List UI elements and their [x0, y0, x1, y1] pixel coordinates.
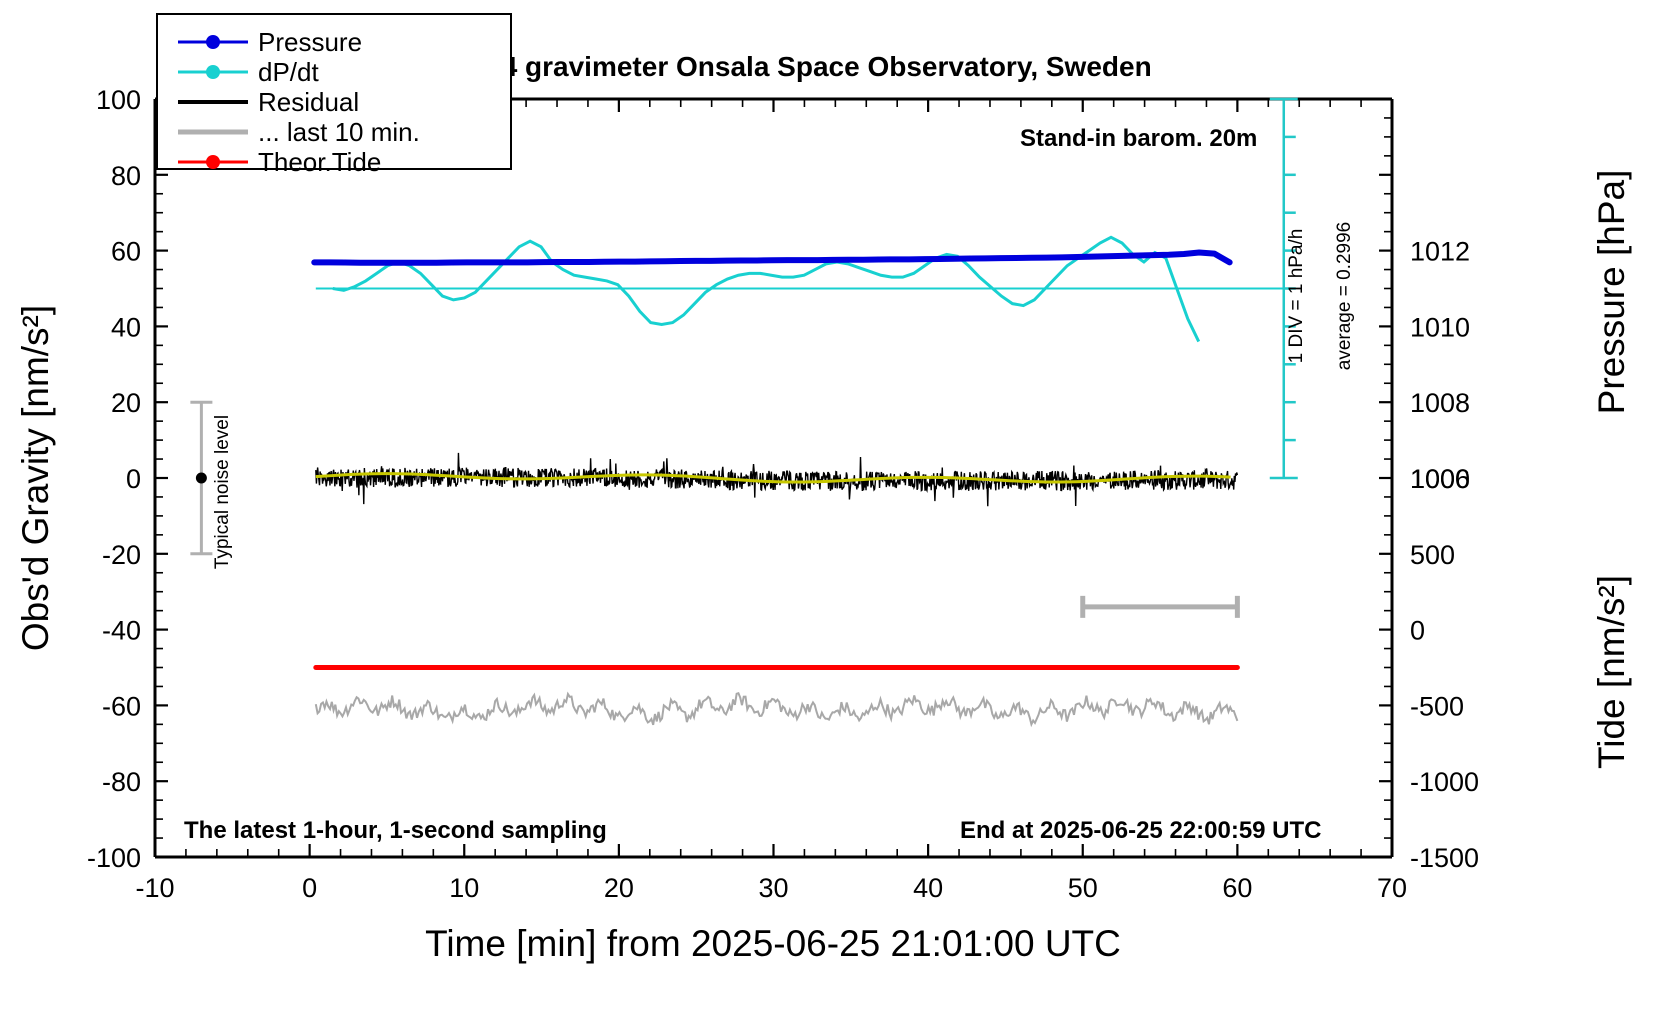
legend-label: Residual [258, 87, 359, 117]
x-tick-label: 10 [449, 873, 479, 903]
tide-axis-label: Tide [nm/s²] [1591, 575, 1632, 769]
sampling-note: The latest 1-hour, 1-second sampling [184, 817, 607, 844]
x-tick-label: 30 [758, 873, 788, 903]
y-tick-label: -60 [102, 691, 141, 721]
tide-tick-label: 1000 [1410, 464, 1470, 494]
legend-marker [206, 155, 220, 169]
gravimeter-chart-page: -10010203040506070 -100-80-60-40-2002040… [0, 0, 1660, 1020]
y-tick-label: -80 [102, 767, 141, 797]
x-tick-label: 0 [302, 873, 317, 903]
y-tick-label: -100 [87, 843, 141, 873]
end-time-note: End at 2025-06-25 22:00:59 UTC [960, 817, 1322, 844]
tide-tick-label: -1000 [1410, 767, 1479, 797]
x-tick-label: 20 [604, 873, 634, 903]
legend-label: Pressure [258, 27, 362, 57]
pressure-tick-label: 1012 [1410, 237, 1470, 267]
y-tick-label: 40 [111, 312, 141, 342]
pressure-tick-label: 1008 [1410, 388, 1470, 418]
y-tick-label: 20 [111, 388, 141, 418]
tide-tick-label: -500 [1410, 691, 1464, 721]
div-scale-annotation: 1 DIV = 1 hPa/h [1286, 229, 1307, 364]
legend-marker [206, 35, 220, 49]
legend-label: dP/dt [258, 57, 319, 87]
stand-in-barometer-annotation: Stand-in barom. 20m [1020, 125, 1257, 152]
pressure-axis-label: Pressure [hPa] [1591, 170, 1632, 415]
chart-legend[interactable]: PressuredP/dtResidual... last 10 min.The… [157, 14, 511, 177]
x-axis-label: Time [min] from 2025-06-25 21:01:00 UTC [425, 923, 1121, 964]
average-value-annotation: average = 0.2996 [1334, 222, 1355, 370]
gravity-time-series-chart: -10010203040506070 -100-80-60-40-2002040… [0, 0, 1660, 1020]
y-tick-label: -20 [102, 540, 141, 570]
x-tick-label: 50 [1068, 873, 1098, 903]
y-tick-label: -40 [102, 616, 141, 646]
pressure-tick-label: 1010 [1410, 312, 1470, 342]
y-tick-label: 100 [96, 85, 141, 115]
x-tick-label: -10 [135, 873, 174, 903]
y-tick-label: 60 [111, 237, 141, 267]
x-tick-label: 40 [913, 873, 943, 903]
y-tick-label: 80 [111, 161, 141, 191]
y-axis-label: Obs'd Gravity [nm/s²] [15, 305, 56, 651]
y-tick-label: 0 [126, 464, 141, 494]
typical-noise-level-annotation: Typical noise level [212, 415, 233, 569]
legend-marker [206, 65, 220, 79]
x-tick-label: 60 [1222, 873, 1252, 903]
tide-tick-label: -1500 [1410, 843, 1479, 873]
tide-tick-label: 0 [1410, 616, 1425, 646]
legend-label: ... last 10 min. [258, 117, 420, 147]
legend-label: Theor.Tide [258, 147, 381, 177]
x-tick-label: 70 [1377, 873, 1407, 903]
tide-tick-label: 500 [1410, 540, 1455, 570]
